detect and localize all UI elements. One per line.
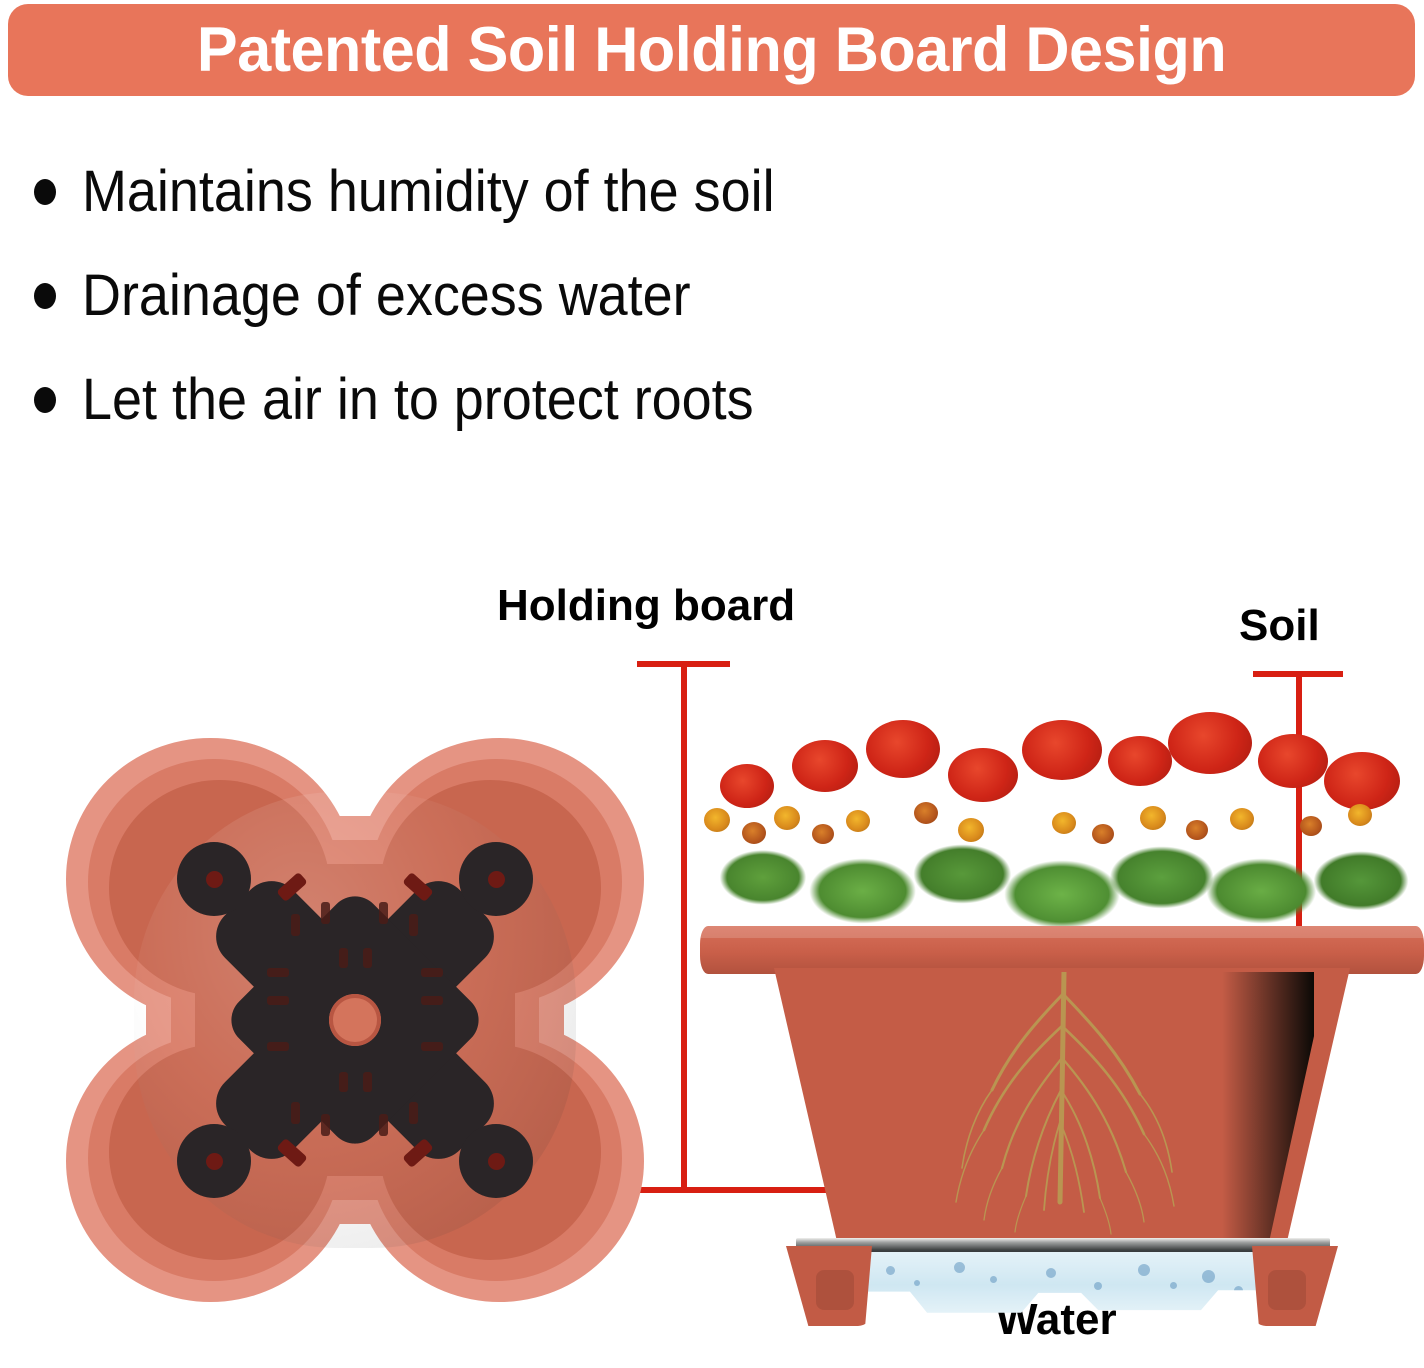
center-drain-hole [329,994,381,1046]
roots-svg [796,972,1328,1240]
board-corner-knob [177,1124,251,1198]
planter-top-view-image [48,720,662,1320]
feature-text: Let the air in to protect roots [82,371,754,429]
board-corner-knob [459,1124,533,1198]
list-item: Drainage of excess water [34,244,1134,348]
callout-label-soil: Soil [1239,604,1320,648]
callout-label-holding-board: Holding board [497,584,795,628]
soil-holding-board-top [171,836,539,1204]
feature-text: Drainage of excess water [82,267,691,325]
board-corner-knob [459,842,533,916]
bullet-dot-icon [34,283,56,309]
pot-rim [700,926,1424,974]
planter-cross-section-image [700,690,1424,1290]
page-title: Patented Soil Holding Board Design [197,19,1226,82]
leaf-mass [706,772,1418,942]
header-banner: Patented Soil Holding Board Design [8,4,1415,96]
feature-text: Maintains humidity of the soil [82,163,775,221]
list-item: Let the air in to protect roots [34,348,1134,452]
bullet-dot-icon [34,179,56,205]
feature-list: Maintains humidity of the soil Drainage … [34,140,1134,452]
pot-leg-left [786,1246,872,1326]
list-item: Maintains humidity of the soil [34,140,1134,244]
plants-foliage [700,690,1424,942]
bullet-dot-icon [34,387,56,413]
product-diagram: Holding board Soil Water [0,560,1424,1368]
leader-stem-holding-board [681,661,687,1190]
board-corner-knob [177,842,251,916]
pot-leg-right [1252,1246,1338,1326]
root-system [796,972,1328,1240]
